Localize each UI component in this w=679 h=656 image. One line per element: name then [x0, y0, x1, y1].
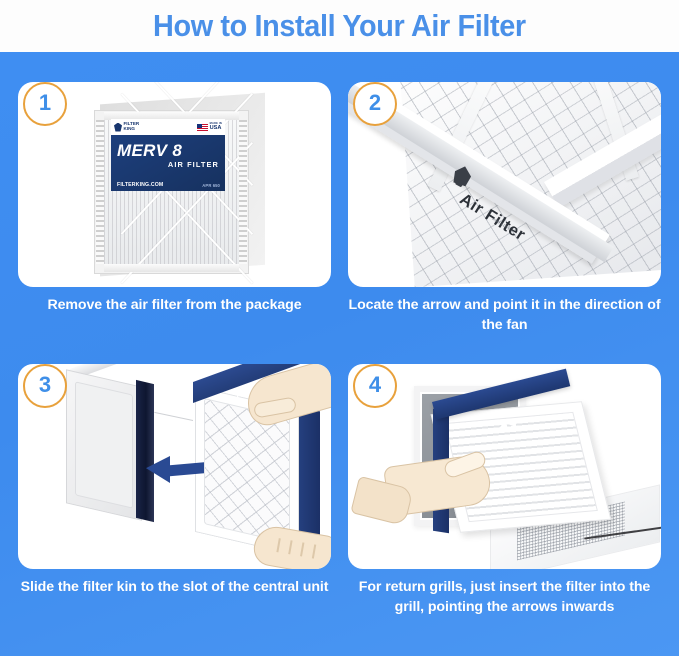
step-panel-3: 3 Slide the filter kin to the slot of th… — [18, 364, 331, 618]
step-4-image-card: 4 — [348, 364, 661, 569]
step-caption-2: Locate the arrow and point it in the dir… — [344, 295, 665, 335]
infographic-stage: FILTER KING MADE IN USA — [0, 52, 679, 656]
step-number-1: 1 — [39, 92, 51, 114]
central-unit-slot — [136, 380, 154, 522]
step-caption-1: Remove the air filter from the package — [14, 295, 335, 315]
page-header: How to Install Your Air Filter — [0, 0, 679, 52]
filter-bottom-edge — [104, 264, 239, 272]
step-caption-4: For return grills, just insert the filte… — [344, 577, 665, 617]
insertion-arrow-icon — [146, 456, 204, 482]
step-badge-3: 3 — [23, 364, 67, 408]
filter-front-face: FILTER KING MADE IN USA — [94, 110, 249, 274]
step-panel-4: 4 For return grills, just insert the fil… — [348, 364, 661, 618]
central-unit-panel — [75, 381, 133, 508]
website-url: FILTERKING.COM — [117, 182, 163, 188]
step-badge-1: 1 — [23, 82, 67, 126]
step-caption-3: Slide the filter kin to the slot of the … — [14, 577, 335, 597]
product-type: AIR FILTER — [117, 160, 219, 169]
filter-left-edge — [96, 120, 104, 264]
filter-product-label: FILTER KING MADE IN USA — [111, 119, 225, 191]
label-blue-panel: MERV 8 AIR FILTER FILTERKING.COM APR 650 — [111, 135, 225, 191]
guide-line — [154, 412, 193, 421]
merv-rating: MERV 8 — [117, 141, 219, 161]
step-badge-2: 2 — [353, 82, 397, 126]
step-number-3: 3 — [39, 374, 51, 396]
step-2-image-card: Air Filter AIRFLOW 2 — [348, 82, 661, 287]
filter-king-logo: FILTER KING — [114, 122, 139, 132]
step-3-image-card: 3 — [18, 364, 331, 569]
usa-flag-icon — [197, 124, 208, 131]
brand-name: FILTER KING — [124, 122, 140, 132]
apr-rating: APR 650 — [202, 183, 220, 188]
label-footer-row: FILTERKING.COM APR 650 — [117, 182, 220, 188]
label-header-row: FILTER KING MADE IN USA — [111, 119, 225, 135]
made-in-usa-mark: MADE IN USA — [197, 123, 222, 131]
page-title: How to Install Your Air Filter — [153, 8, 526, 44]
filter-right-edge — [239, 120, 247, 264]
step-badge-4: 4 — [353, 364, 397, 408]
step-panel-2: Air Filter AIRFLOW 2 Locate the arrow an… — [348, 82, 661, 336]
crown-icon — [114, 123, 122, 132]
step-number-4: 4 — [369, 374, 381, 396]
merv8-filter-illustration: FILTER KING MADE IN USA — [94, 104, 259, 276]
step-panel-1: FILTER KING MADE IN USA — [18, 82, 331, 336]
central-unit-body — [66, 369, 142, 521]
steps-grid: FILTER KING MADE IN USA — [0, 52, 679, 656]
step-1-image-card: FILTER KING MADE IN USA — [18, 82, 331, 287]
country-label: MADE IN USA — [210, 123, 222, 131]
step-number-2: 2 — [369, 92, 381, 114]
